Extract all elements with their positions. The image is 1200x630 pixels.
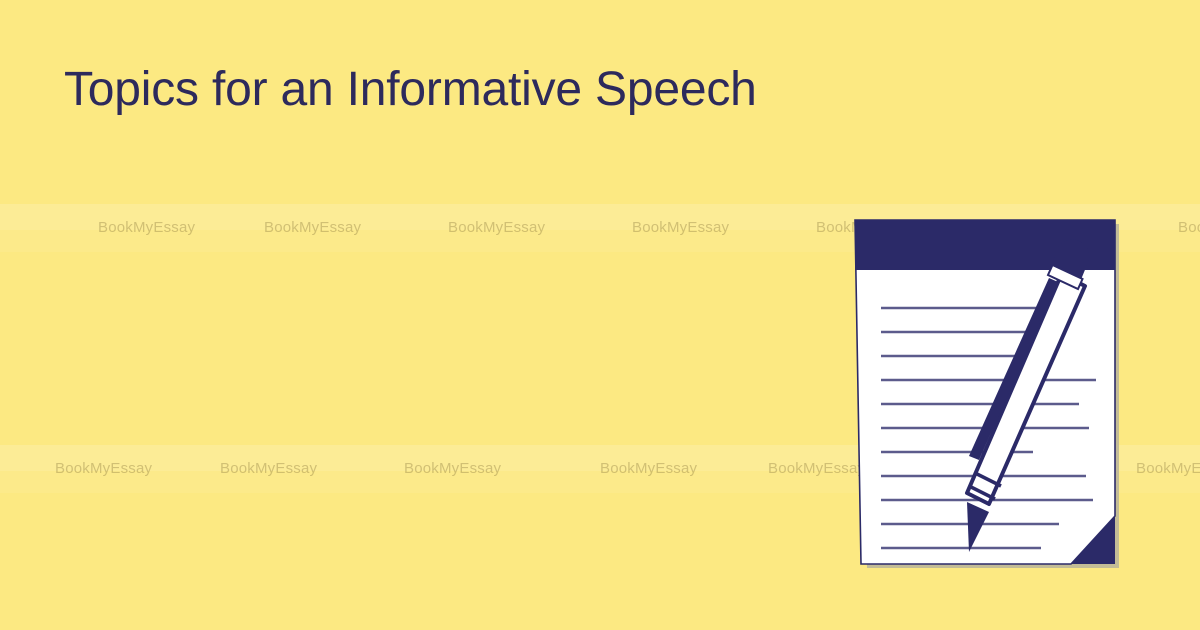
watermark-label: BookMyEssay [404, 460, 501, 477]
watermark-label: BookMyEssay [98, 219, 195, 236]
watermark-label: BookMyEssay [220, 460, 317, 477]
watermark-label: BookMyEssay [264, 219, 361, 236]
watermark-label: BookMyEssay [768, 460, 865, 477]
watermark-label: BookMyEssay [632, 219, 729, 236]
watermark-label: BookMyEssay [1136, 460, 1200, 477]
watermark-label: BookMyEssay [55, 460, 152, 477]
watermark-label: BookMyEssay [600, 460, 697, 477]
watermark-label: BookMyEssay [1178, 219, 1200, 236]
watermark-label: BookMyEssay [448, 219, 545, 236]
slide-canvas: Topics for an Informative Speech BookMyE… [0, 0, 1200, 630]
page-title: Topics for an Informative Speech [64, 62, 757, 117]
notepad-illustration [853, 216, 1119, 572]
